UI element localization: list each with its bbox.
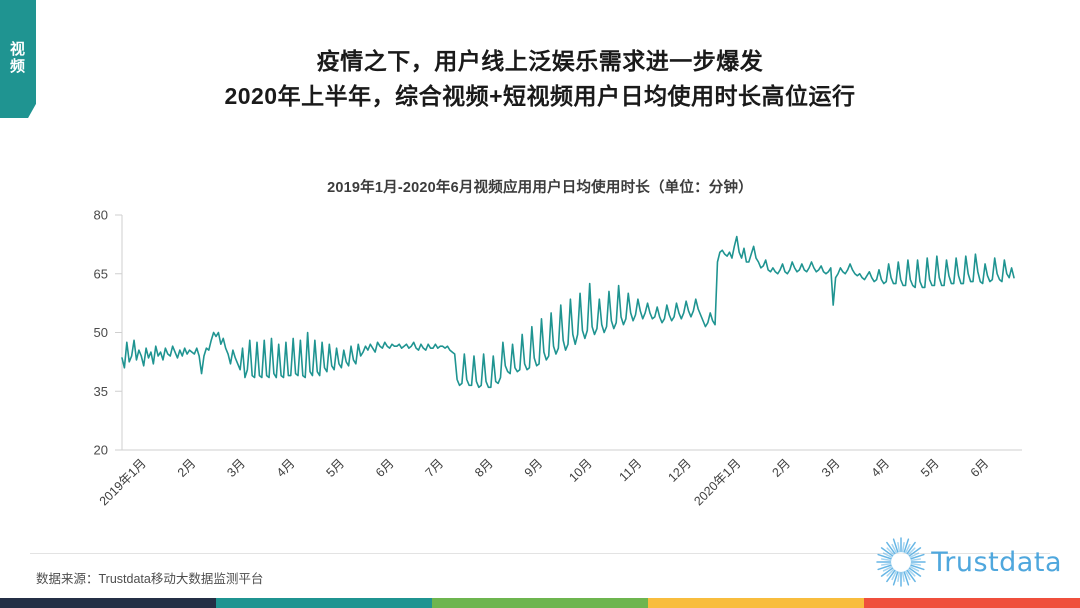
y-axis-label: 50 — [94, 325, 108, 340]
footer-colorbar — [0, 598, 1080, 608]
x-axis-label: 11月 — [617, 456, 645, 484]
category-tag-line1: 视 — [10, 42, 26, 59]
title-line-2: 2020年上半年，综合视频+短视频用户日均使用时长高位运行 — [90, 79, 990, 114]
x-axis-label: 9月 — [522, 456, 546, 480]
x-axis-label: 6月 — [968, 456, 992, 480]
chart-title: 2019年1月-2020年6月视频应用用户日均使用时长（单位：分钟） — [90, 176, 990, 197]
colorbar-segment-2 — [432, 598, 648, 608]
colorbar-segment-1 — [216, 598, 432, 608]
x-axis-label: 4月 — [869, 456, 893, 480]
chart-container: 20355065802019年1月2月3月4月5月6月7月8月9月10月11月1… — [0, 200, 1080, 530]
data-source-text: 数据来源：Trustdata移动大数据监测平台 — [36, 568, 263, 587]
category-tag-line2: 频 — [10, 59, 26, 76]
slide-title: 疫情之下，用户线上泛娱乐需求进一步爆发 2020年上半年，综合视频+短视频用户日… — [90, 44, 990, 113]
x-axis-label: 8月 — [472, 456, 496, 480]
trustdata-logo: Trustdata — [875, 536, 1062, 588]
x-axis-label: 2019年1月 — [97, 456, 149, 508]
x-axis-label: 3月 — [224, 456, 248, 480]
colorbar-segment-0 — [0, 598, 216, 608]
x-axis-label: 10月 — [566, 456, 595, 485]
x-axis-label: 4月 — [274, 456, 298, 480]
colorbar-segment-3 — [648, 598, 864, 608]
y-axis-label: 35 — [94, 384, 108, 399]
sunburst-icon — [875, 536, 927, 588]
y-axis-label: 20 — [94, 443, 108, 458]
category-tag: 视 频 — [0, 0, 36, 118]
x-axis-label: 3月 — [819, 456, 843, 480]
logo-wordmark: Trustdata — [931, 547, 1062, 578]
x-axis-label: 12月 — [665, 456, 694, 485]
x-axis-label: 2月 — [175, 456, 199, 480]
x-axis-label: 6月 — [373, 456, 397, 480]
x-axis-label: 2月 — [769, 456, 793, 480]
y-axis-label: 65 — [94, 266, 108, 281]
y-axis-label: 80 — [94, 208, 108, 223]
colorbar-segment-4 — [864, 598, 1080, 608]
line-chart: 20355065802019年1月2月3月4月5月6月7月8月9月10月11月1… — [0, 200, 1080, 530]
x-axis-label: 5月 — [918, 456, 942, 480]
x-axis-label: 5月 — [323, 456, 347, 480]
data-line-series-0 — [122, 237, 1014, 388]
x-axis-label: 7月 — [423, 456, 447, 480]
title-line-1: 疫情之下，用户线上泛娱乐需求进一步爆发 — [90, 44, 990, 79]
x-axis-label: 2020年1月 — [691, 456, 743, 508]
